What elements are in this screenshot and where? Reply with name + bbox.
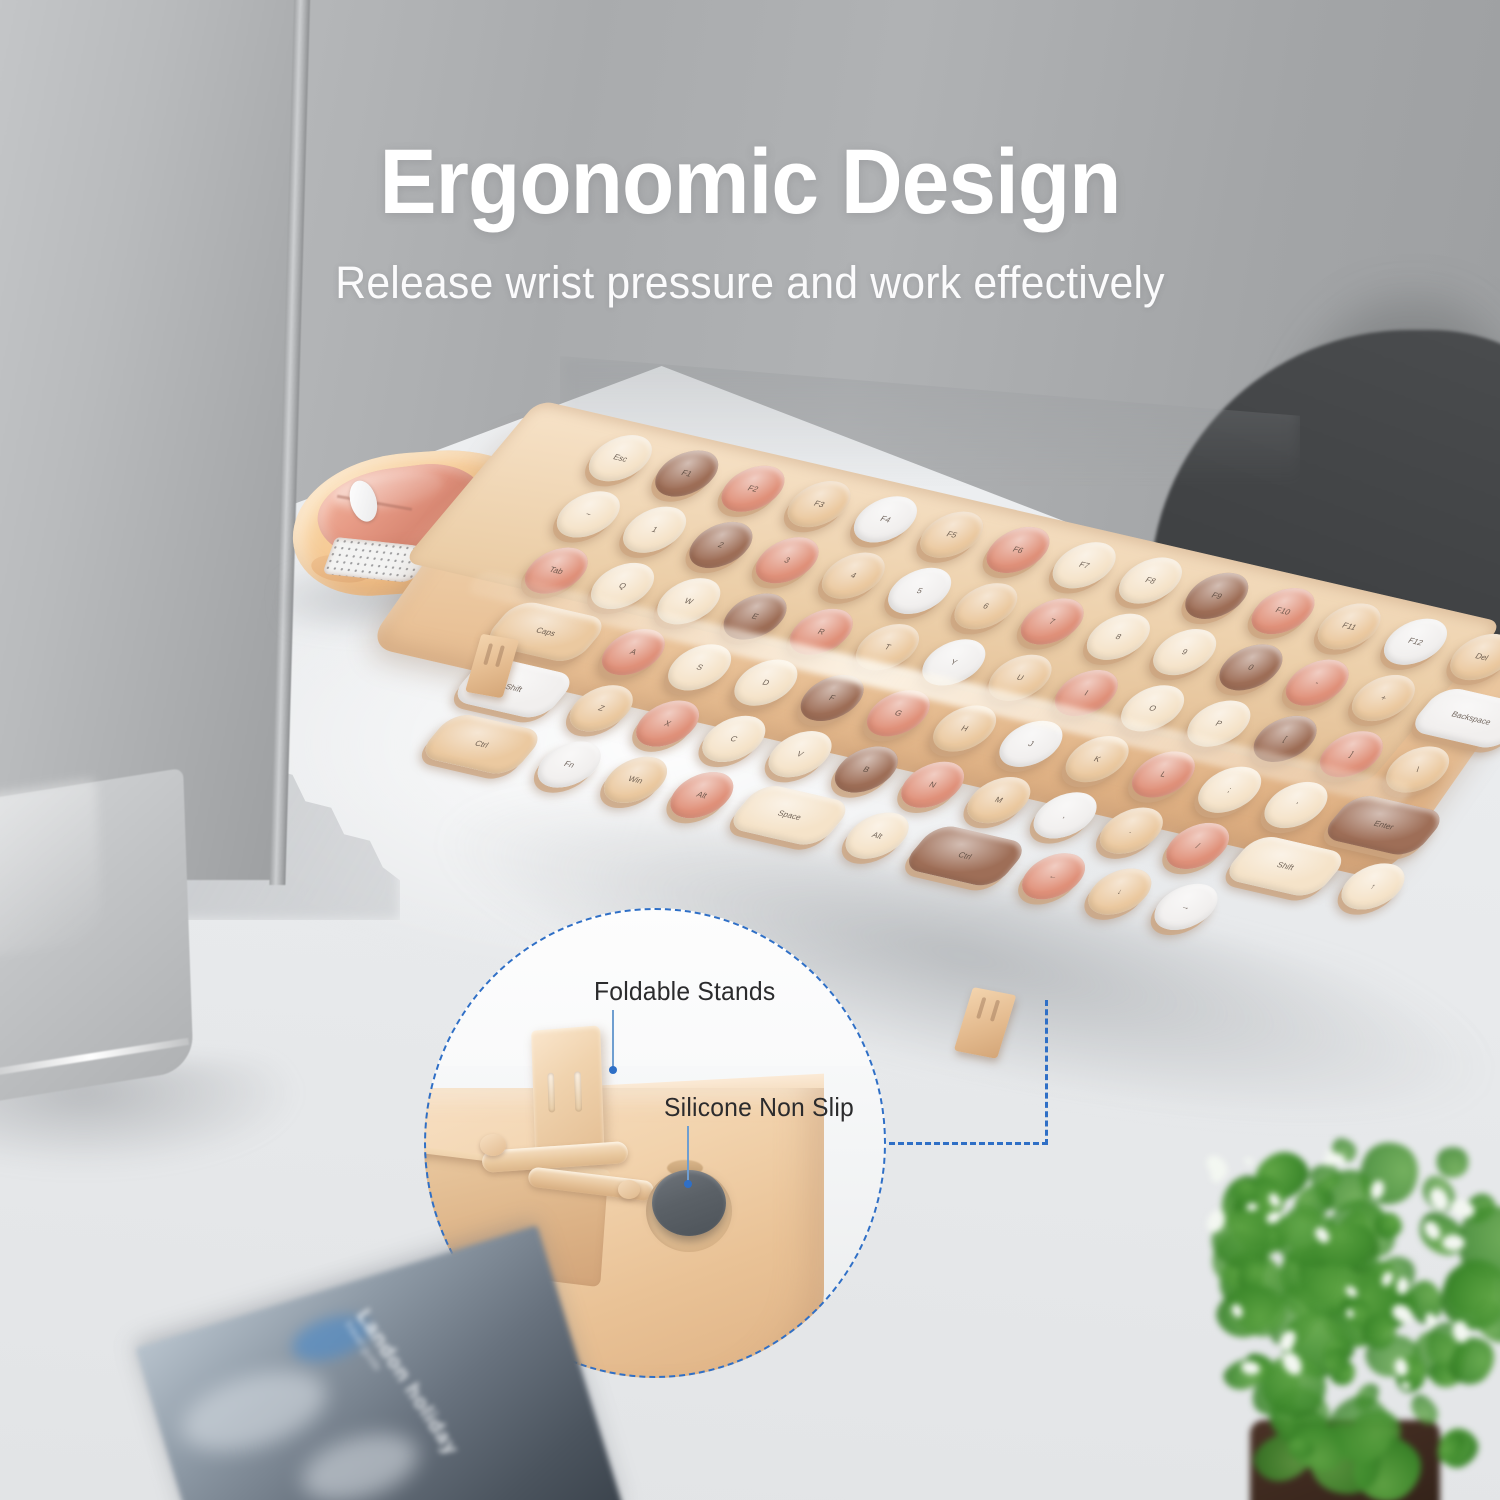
keycap-legend: 6 <box>958 596 1014 616</box>
keycap-legend: F5 <box>924 525 980 545</box>
keycap[interactable]: → <box>1142 879 1230 935</box>
keycap[interactable]: M <box>955 772 1043 828</box>
keycap-legend: / <box>1170 836 1226 856</box>
keycap-legend: F9 <box>1189 586 1245 606</box>
keycap[interactable]: X <box>624 695 712 751</box>
keycap-legend: M <box>971 790 1027 810</box>
keycap-legend: Esc <box>592 448 648 468</box>
keycap-legend: 8 <box>1090 627 1146 647</box>
keycap-legend: Z <box>574 698 630 718</box>
keycap-legend: F1 <box>659 464 715 484</box>
keycap[interactable]: / <box>1154 818 1242 874</box>
keycap-legend: C <box>706 729 762 749</box>
keycap[interactable]: F6 <box>974 522 1062 578</box>
callout-label-foldable-stands: Foldable Stands <box>594 976 775 1007</box>
keycap[interactable]: 3 <box>743 532 831 588</box>
keycap-legend: Fn <box>541 755 597 775</box>
keycap-legend: F8 <box>1123 571 1179 591</box>
keycap[interactable]: F4 <box>841 491 929 547</box>
keycap[interactable]: F5 <box>908 506 996 562</box>
keycap-legend: Q <box>595 576 651 596</box>
leader-dot-silicone-non-slip <box>684 1180 692 1188</box>
keycap-legend: Ctrl <box>432 729 531 759</box>
keycap-legend: P <box>1191 714 1247 734</box>
keycap-legend: , <box>1037 806 1093 826</box>
keycap[interactable]: Fn <box>525 736 613 792</box>
keycap[interactable]: F2 <box>709 461 797 517</box>
keycap[interactable]: 1 <box>611 501 699 557</box>
keycap[interactable]: F10 <box>1239 583 1327 639</box>
callout-connector-vertical <box>1045 1000 1048 1145</box>
keycap[interactable]: Space <box>724 782 855 848</box>
keycap-legend: U <box>992 668 1048 688</box>
keycap-legend: Del <box>1454 647 1500 667</box>
plant-flower <box>1243 1156 1255 1167</box>
keycap-legend: K <box>1069 749 1125 769</box>
keycap[interactable]: . <box>1087 802 1175 858</box>
keycap-legend: Alt <box>850 826 906 846</box>
keycap[interactable]: 2 <box>677 517 765 573</box>
keycap-legend: F <box>804 688 860 708</box>
plant-flower <box>1203 1152 1232 1182</box>
keycap-legend: R <box>793 622 849 642</box>
product-marketing-image: Ergonomic Design Release wrist pressure … <box>0 0 1500 1500</box>
keycap-legend: 1 <box>627 520 683 540</box>
keycap-legend: L <box>1136 765 1192 785</box>
keycap[interactable]: 4 <box>809 547 897 603</box>
keycap-legend: F4 <box>857 509 913 529</box>
keycap[interactable]: ← <box>1009 848 1097 904</box>
keycap-legend: F10 <box>1255 601 1311 621</box>
callout-connector-horizontal <box>880 1142 1048 1145</box>
keycap[interactable]: ↓ <box>1075 863 1163 919</box>
keycap-legend: ~ <box>560 505 616 525</box>
keycap-legend: Backspace <box>1422 703 1500 733</box>
keycap-legend: F12 <box>1388 632 1444 652</box>
keycap-legend: X <box>640 714 696 734</box>
keycap-legend: Y <box>926 653 982 673</box>
keycap-legend: Win <box>608 770 664 790</box>
keycap-legend: Enter <box>1334 810 1433 840</box>
keycap[interactable]: N <box>889 757 977 813</box>
keycap-legend: 4 <box>825 566 881 586</box>
keycap-legend: S <box>672 658 728 678</box>
keycap-legend: J <box>1003 734 1059 754</box>
keycap[interactable]: Backspace <box>1406 685 1500 751</box>
keycap-legend: A <box>606 642 662 662</box>
keycap-legend: → <box>1158 897 1214 917</box>
keycap-legend: 2 <box>693 535 749 555</box>
page-title: Ergonomic Design <box>53 136 1448 228</box>
keycap[interactable]: F9 <box>1173 568 1261 624</box>
keycap-legend: G <box>871 703 927 723</box>
keycap-legend: 3 <box>759 550 815 570</box>
keycap-legend: ] <box>1323 744 1379 764</box>
keycap[interactable]: Del <box>1438 629 1500 685</box>
keycap-legend: V <box>772 744 828 764</box>
keycap-legend: \ <box>1390 760 1446 780</box>
keycap-legend: H <box>937 719 993 739</box>
keycap[interactable]: Alt <box>658 767 746 823</box>
keycap-legend: D <box>738 673 794 693</box>
keycap-legend: Alt <box>674 785 730 805</box>
keycap-legend: ↑ <box>1345 877 1401 897</box>
keycap[interactable]: - <box>1273 654 1361 710</box>
keycap-legend: B <box>839 760 895 780</box>
keycap[interactable]: , <box>1021 787 1109 843</box>
keycap[interactable]: Alt <box>833 807 921 863</box>
page-subtitle: Release wrist pressure and work effectiv… <box>38 260 1463 305</box>
keycap[interactable]: Shift <box>1220 833 1351 899</box>
keycap[interactable]: Esc <box>576 430 664 486</box>
keycap[interactable]: Win <box>592 752 680 808</box>
keycap-legend: Tab <box>528 561 584 581</box>
keycap[interactable]: Ctrl <box>416 711 547 777</box>
leader-line-foldable-stands <box>612 1010 614 1070</box>
leader-dot-foldable-stands <box>609 1066 617 1074</box>
keycap-legend: Shift <box>1236 851 1335 881</box>
keycap-legend: 7 <box>1024 612 1080 632</box>
keycap[interactable]: + <box>1339 670 1427 726</box>
keycap[interactable]: F7 <box>1040 537 1128 593</box>
keycap[interactable]: 8 <box>1074 609 1162 665</box>
keycap-legend: Space <box>740 801 839 831</box>
keycap[interactable]: 6 <box>942 578 1030 634</box>
keycap-legend: - <box>1289 673 1345 693</box>
keycap[interactable]: V <box>756 726 844 782</box>
keycap-legend: Ctrl <box>916 841 1015 871</box>
keycap-legend: W <box>661 591 717 611</box>
keycap-legend: I <box>1058 683 1114 703</box>
keycap-legend: F2 <box>725 479 781 499</box>
leader-line-silicone-non-slip <box>687 1126 689 1184</box>
keycap-legend: O <box>1125 698 1181 718</box>
keycap[interactable]: F3 <box>775 476 863 532</box>
plant-flower <box>1281 1334 1294 1352</box>
keycap-legend: E <box>727 607 783 627</box>
keycap-legend: 9 <box>1157 642 1213 662</box>
keycap[interactable]: C <box>690 711 778 767</box>
keycap[interactable]: 5 <box>876 563 964 619</box>
keycap-legend: . <box>1104 821 1160 841</box>
keycap-legend: T <box>860 637 916 657</box>
keycap[interactable]: ~ <box>544 486 632 542</box>
keycap-legend: ← <box>1025 866 1081 886</box>
keycap-legend: 0 <box>1223 658 1279 678</box>
keycap-legend: + <box>1355 688 1411 708</box>
keycap-legend: [ <box>1257 729 1313 749</box>
keycap[interactable]: F12 <box>1371 614 1459 670</box>
keycap-legend: ; <box>1202 780 1258 800</box>
keycap[interactable]: Z <box>557 680 645 736</box>
keycap[interactable]: 9 <box>1141 624 1229 680</box>
keycap[interactable]: Ctrl <box>900 823 1031 889</box>
keycap[interactable]: B <box>822 741 910 797</box>
keycap[interactable]: 0 <box>1207 639 1295 695</box>
keycap[interactable]: ↑ <box>1329 858 1417 914</box>
keycap-legend: ' <box>1268 795 1324 815</box>
keycap-legend: F6 <box>990 540 1046 560</box>
keycap-legend: F7 <box>1056 555 1112 575</box>
keycap-legend: 5 <box>892 581 948 601</box>
keycap[interactable]: F11 <box>1305 598 1393 654</box>
keycap-legend: F3 <box>791 494 847 514</box>
keycap[interactable]: F8 <box>1106 552 1194 608</box>
monitor-panel <box>0 0 303 880</box>
keycap-legend: ↓ <box>1091 882 1147 902</box>
potted-plant <box>1180 1110 1500 1500</box>
keycap[interactable]: F1 <box>643 445 731 501</box>
keycap-legend: F11 <box>1321 617 1377 637</box>
keycap-legend: N <box>905 775 961 795</box>
keycap[interactable]: 7 <box>1008 593 1096 649</box>
callout-label-silicone-non-slip: Silicone Non Slip <box>664 1092 854 1123</box>
